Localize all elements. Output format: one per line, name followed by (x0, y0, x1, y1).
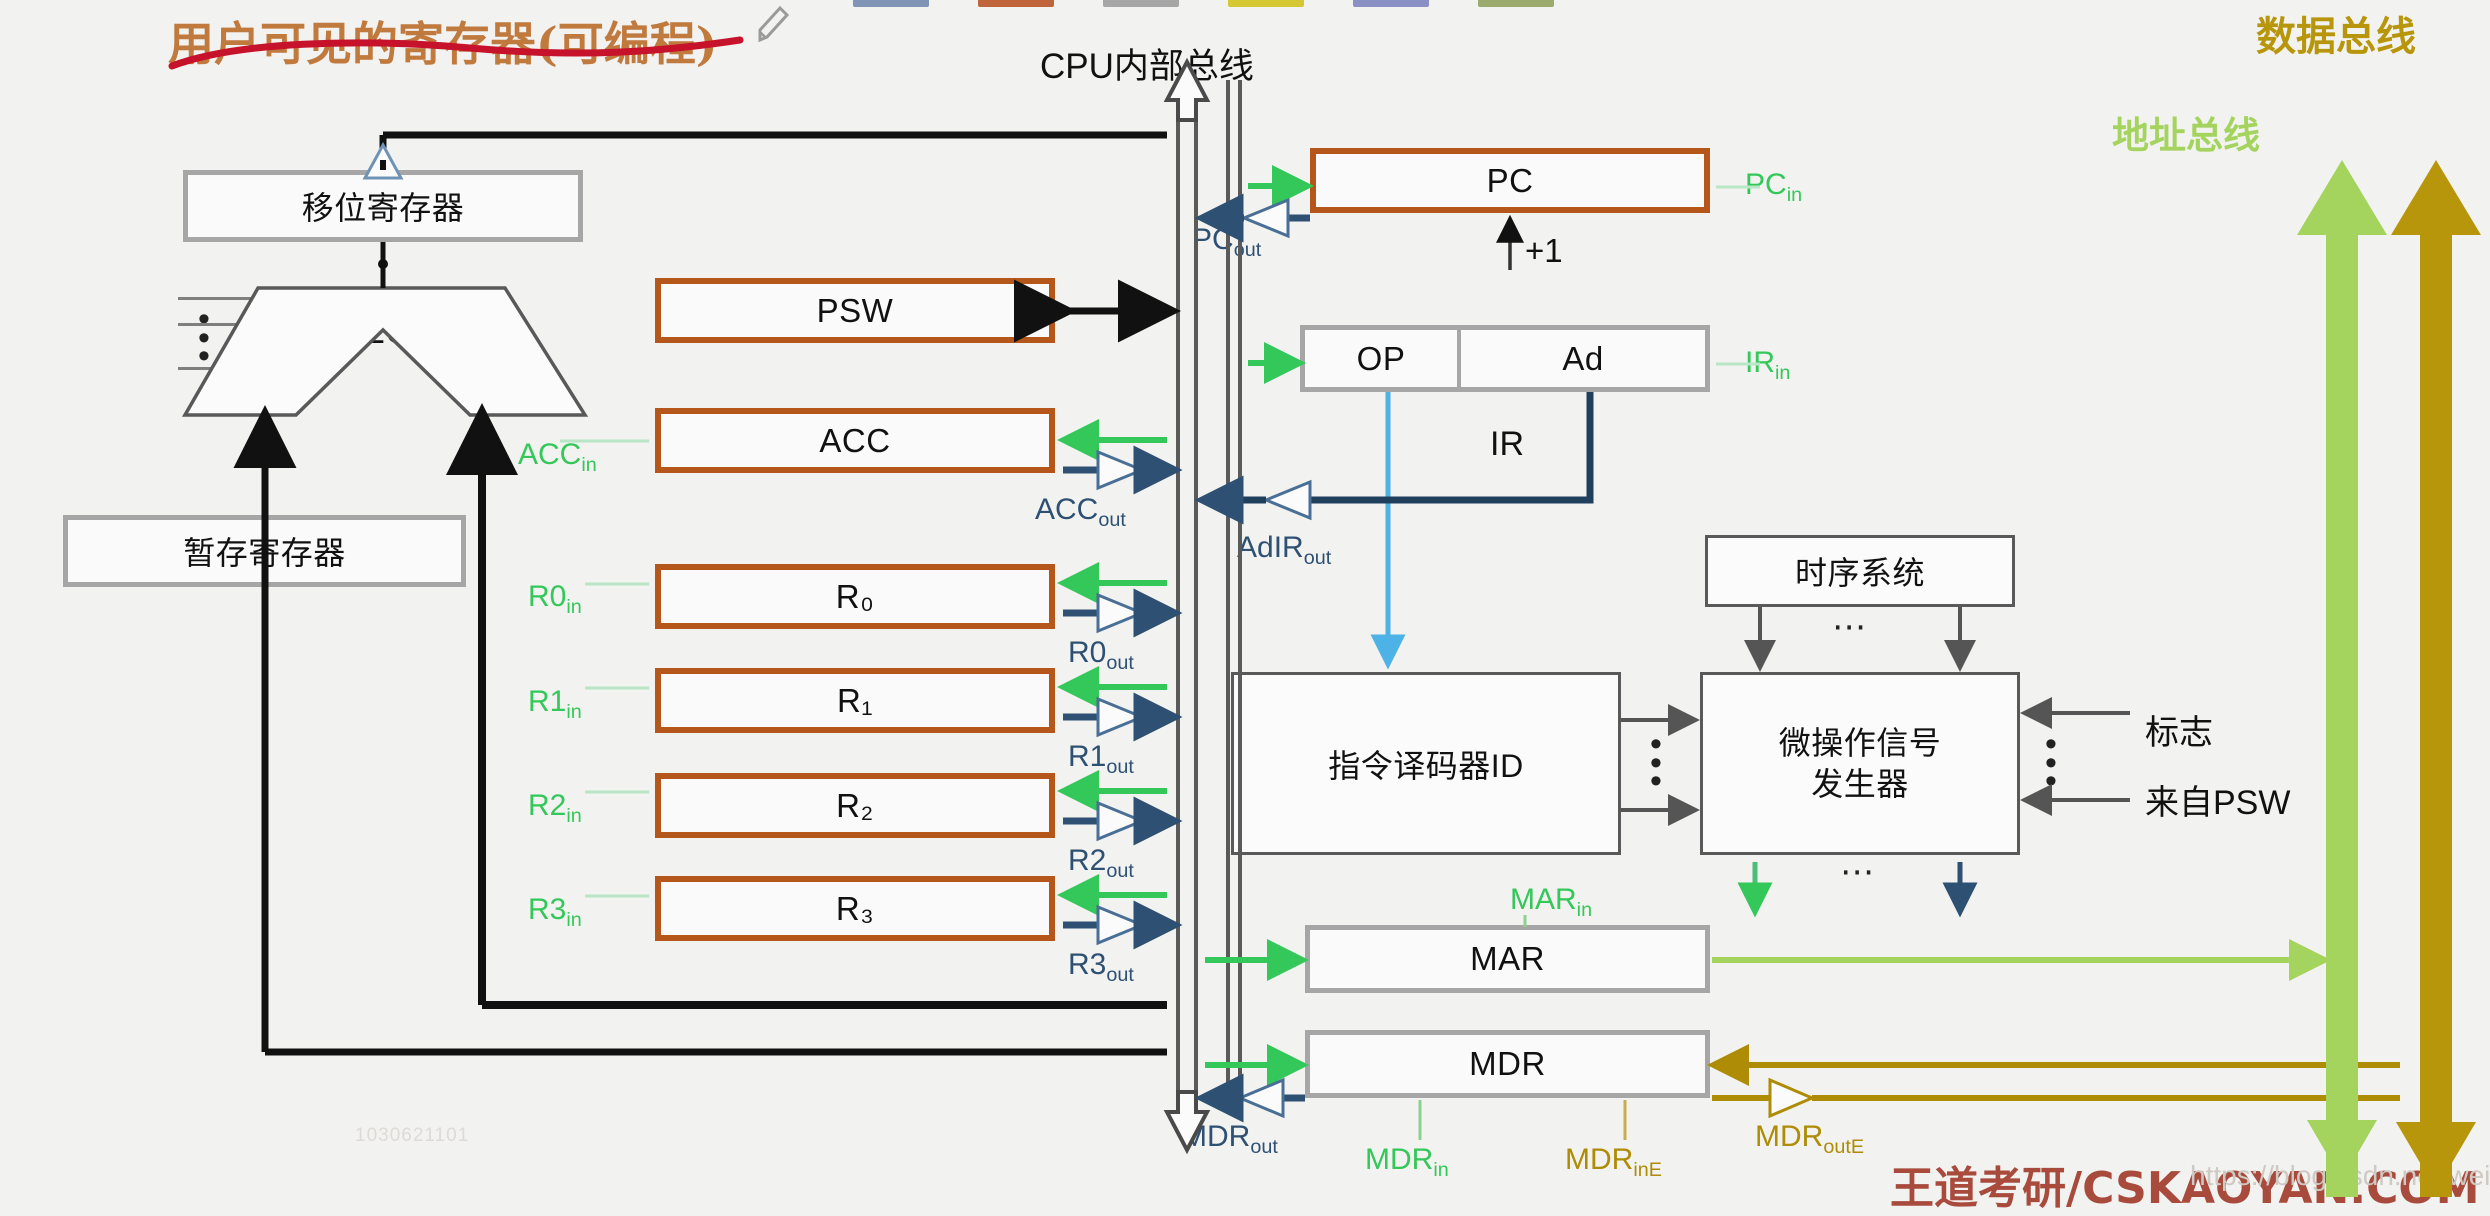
register-psw-box: PSW (655, 278, 1055, 343)
alu-input-a-wire (265, 419, 1167, 1052)
flags-label-2: 来自PSW (2145, 775, 2290, 824)
pc-in-label: PCin (1745, 170, 1802, 206)
acc-out-buffer (1063, 452, 1172, 488)
adir-out-label: AdIRout (1237, 533, 1331, 569)
acc-in-label: ACCin (518, 440, 597, 476)
ribbon-swatch-1[interactable] (978, 0, 1054, 7)
r2-out-buffer (1063, 803, 1172, 839)
data-bus-arrow (2391, 160, 2481, 1197)
ir-label: IR (1490, 425, 1524, 464)
r2-in-label: R2in (528, 791, 582, 827)
r1-out-buffer (1063, 699, 1172, 735)
register-acc-box: ACC (655, 408, 1055, 473)
r1-in-label: R1in (528, 687, 582, 723)
timing-dots: ⋯ (1832, 610, 1866, 644)
register-mar-box: MAR (1305, 925, 1710, 993)
address-bus-label: 地址总线 (2112, 105, 2260, 159)
mdr-outE-buffer (1712, 1080, 2400, 1116)
register-r0-label: R₀ (836, 578, 875, 616)
annotation-title: 用户可见的寄存器(可编程) (168, 8, 718, 74)
alu-control-dots: ••• (198, 310, 210, 366)
register-mdr-box: MDR (1305, 1030, 1710, 1098)
flags-dots: ••• (2045, 735, 2057, 791)
data-bus-label: 数据总线 (2256, 4, 2416, 62)
mdr-out-buffer (1205, 1080, 1305, 1116)
register-pc-box: PC (1310, 148, 1710, 213)
alu-ctrl-line-2 (178, 323, 246, 326)
cpu-datapath-diagram: 用户可见的寄存器(可编程) CPU内部总线 数据总线 地址总线 移位寄存器 AL… (0, 0, 2490, 1197)
register-r0-box: R₀ (655, 564, 1055, 629)
mdr-outE-label: MDRoutE (1755, 1122, 1864, 1158)
alu-ctrl-line-1 (178, 297, 258, 300)
r3-in-label: R3in (528, 895, 582, 931)
register-r3-box: R₃ (655, 876, 1055, 941)
instruction-decoder-label: 指令译码器ID (1328, 741, 1524, 787)
ribbon-swatch-2[interactable] (1103, 0, 1179, 7)
register-r2-label: R₂ (836, 787, 874, 825)
register-r3-label: R₃ (836, 890, 874, 928)
mar-in-label: MARin (1510, 885, 1592, 921)
alu-input-b-label: B (465, 365, 490, 407)
mdr-inE-wire (1625, 1065, 2400, 1140)
ir-ad-to-bus-wire (1205, 392, 1590, 518)
register-r1-box: R₁ (655, 668, 1055, 733)
ir-in-label: IRin (1745, 348, 1790, 384)
flags-to-microop-wires (2026, 713, 2130, 800)
register-psw-label: PSW (817, 292, 894, 330)
decoder-microop-dots: ••• (1650, 735, 1662, 791)
register-r1-label: R₁ (837, 682, 873, 720)
ir-op-field-label: OP (1357, 340, 1406, 378)
temp-register-box: 暂存寄存器 (63, 515, 466, 587)
r3-out-buffer (1063, 907, 1172, 943)
address-bus-arrow (2297, 160, 2387, 1197)
acc-out-label: ACCout (1035, 495, 1126, 531)
flags-label-1: 标志 (2145, 705, 2213, 754)
register-acc-label: ACC (819, 422, 890, 460)
r1-out-label: R1out (1068, 742, 1134, 778)
r0-in-label: R0in (528, 582, 582, 618)
mdr-out-label: MDRout (1182, 1122, 1278, 1158)
mdr-inE-label: MDRinE (1565, 1145, 1662, 1181)
r2-out-label: R2out (1068, 846, 1134, 882)
ribbon-swatch-5[interactable] (1478, 0, 1554, 7)
r0-out-buffer (1063, 595, 1172, 631)
r3-out-label: R3out (1068, 950, 1134, 986)
register-r2-box: R₂ (655, 773, 1055, 838)
alu-label: ALU (340, 310, 412, 352)
microop-generator-label-2: 发生器 (1811, 764, 1909, 805)
microop-generator-box: 微操作信号 发生器 (1700, 672, 2020, 855)
watermark-url: https://blog.csdn.net/weixin_43899645 (2190, 1160, 2490, 1192)
microop-generator-label-1: 微操作信号 (1779, 723, 1942, 764)
temp-register-label: 暂存寄存器 (183, 528, 346, 574)
pc-increment-label: +1 (1525, 232, 1563, 270)
ribbon-swatch-4[interactable] (1353, 0, 1429, 7)
timing-system-box: 时序系统 (1705, 535, 2015, 607)
shift-register-label: 移位寄存器 (302, 183, 465, 229)
timing-system-label: 时序系统 (1795, 548, 1925, 594)
cpu-internal-bus-label: CPU内部总线 (1040, 38, 1254, 89)
register-pc-label: PC (1487, 162, 1534, 200)
register-mdr-label: MDR (1469, 1045, 1546, 1083)
microop-output-dots: ⋯ (1840, 855, 1874, 889)
pc-out-label: PCout (1192, 225, 1261, 261)
watermark-number: 1030621101 (355, 1125, 469, 1147)
ribbon-swatch-3[interactable] (1228, 0, 1304, 7)
alu-ctrl-line-3 (178, 367, 214, 370)
r0-out-label: R0out (1068, 638, 1134, 674)
mdr-in-label: MDRin (1365, 1145, 1449, 1181)
register-mar-label: MAR (1470, 940, 1545, 978)
register-ir-box: OP Ad (1300, 325, 1710, 392)
ribbon-swatch-0[interactable] (853, 0, 929, 7)
instruction-decoder-box: 指令译码器ID (1231, 672, 1621, 855)
alu-input-a-label: A (254, 365, 279, 407)
shift-register-box: 移位寄存器 (183, 170, 583, 242)
ir-ad-field-label: Ad (1562, 340, 1603, 378)
